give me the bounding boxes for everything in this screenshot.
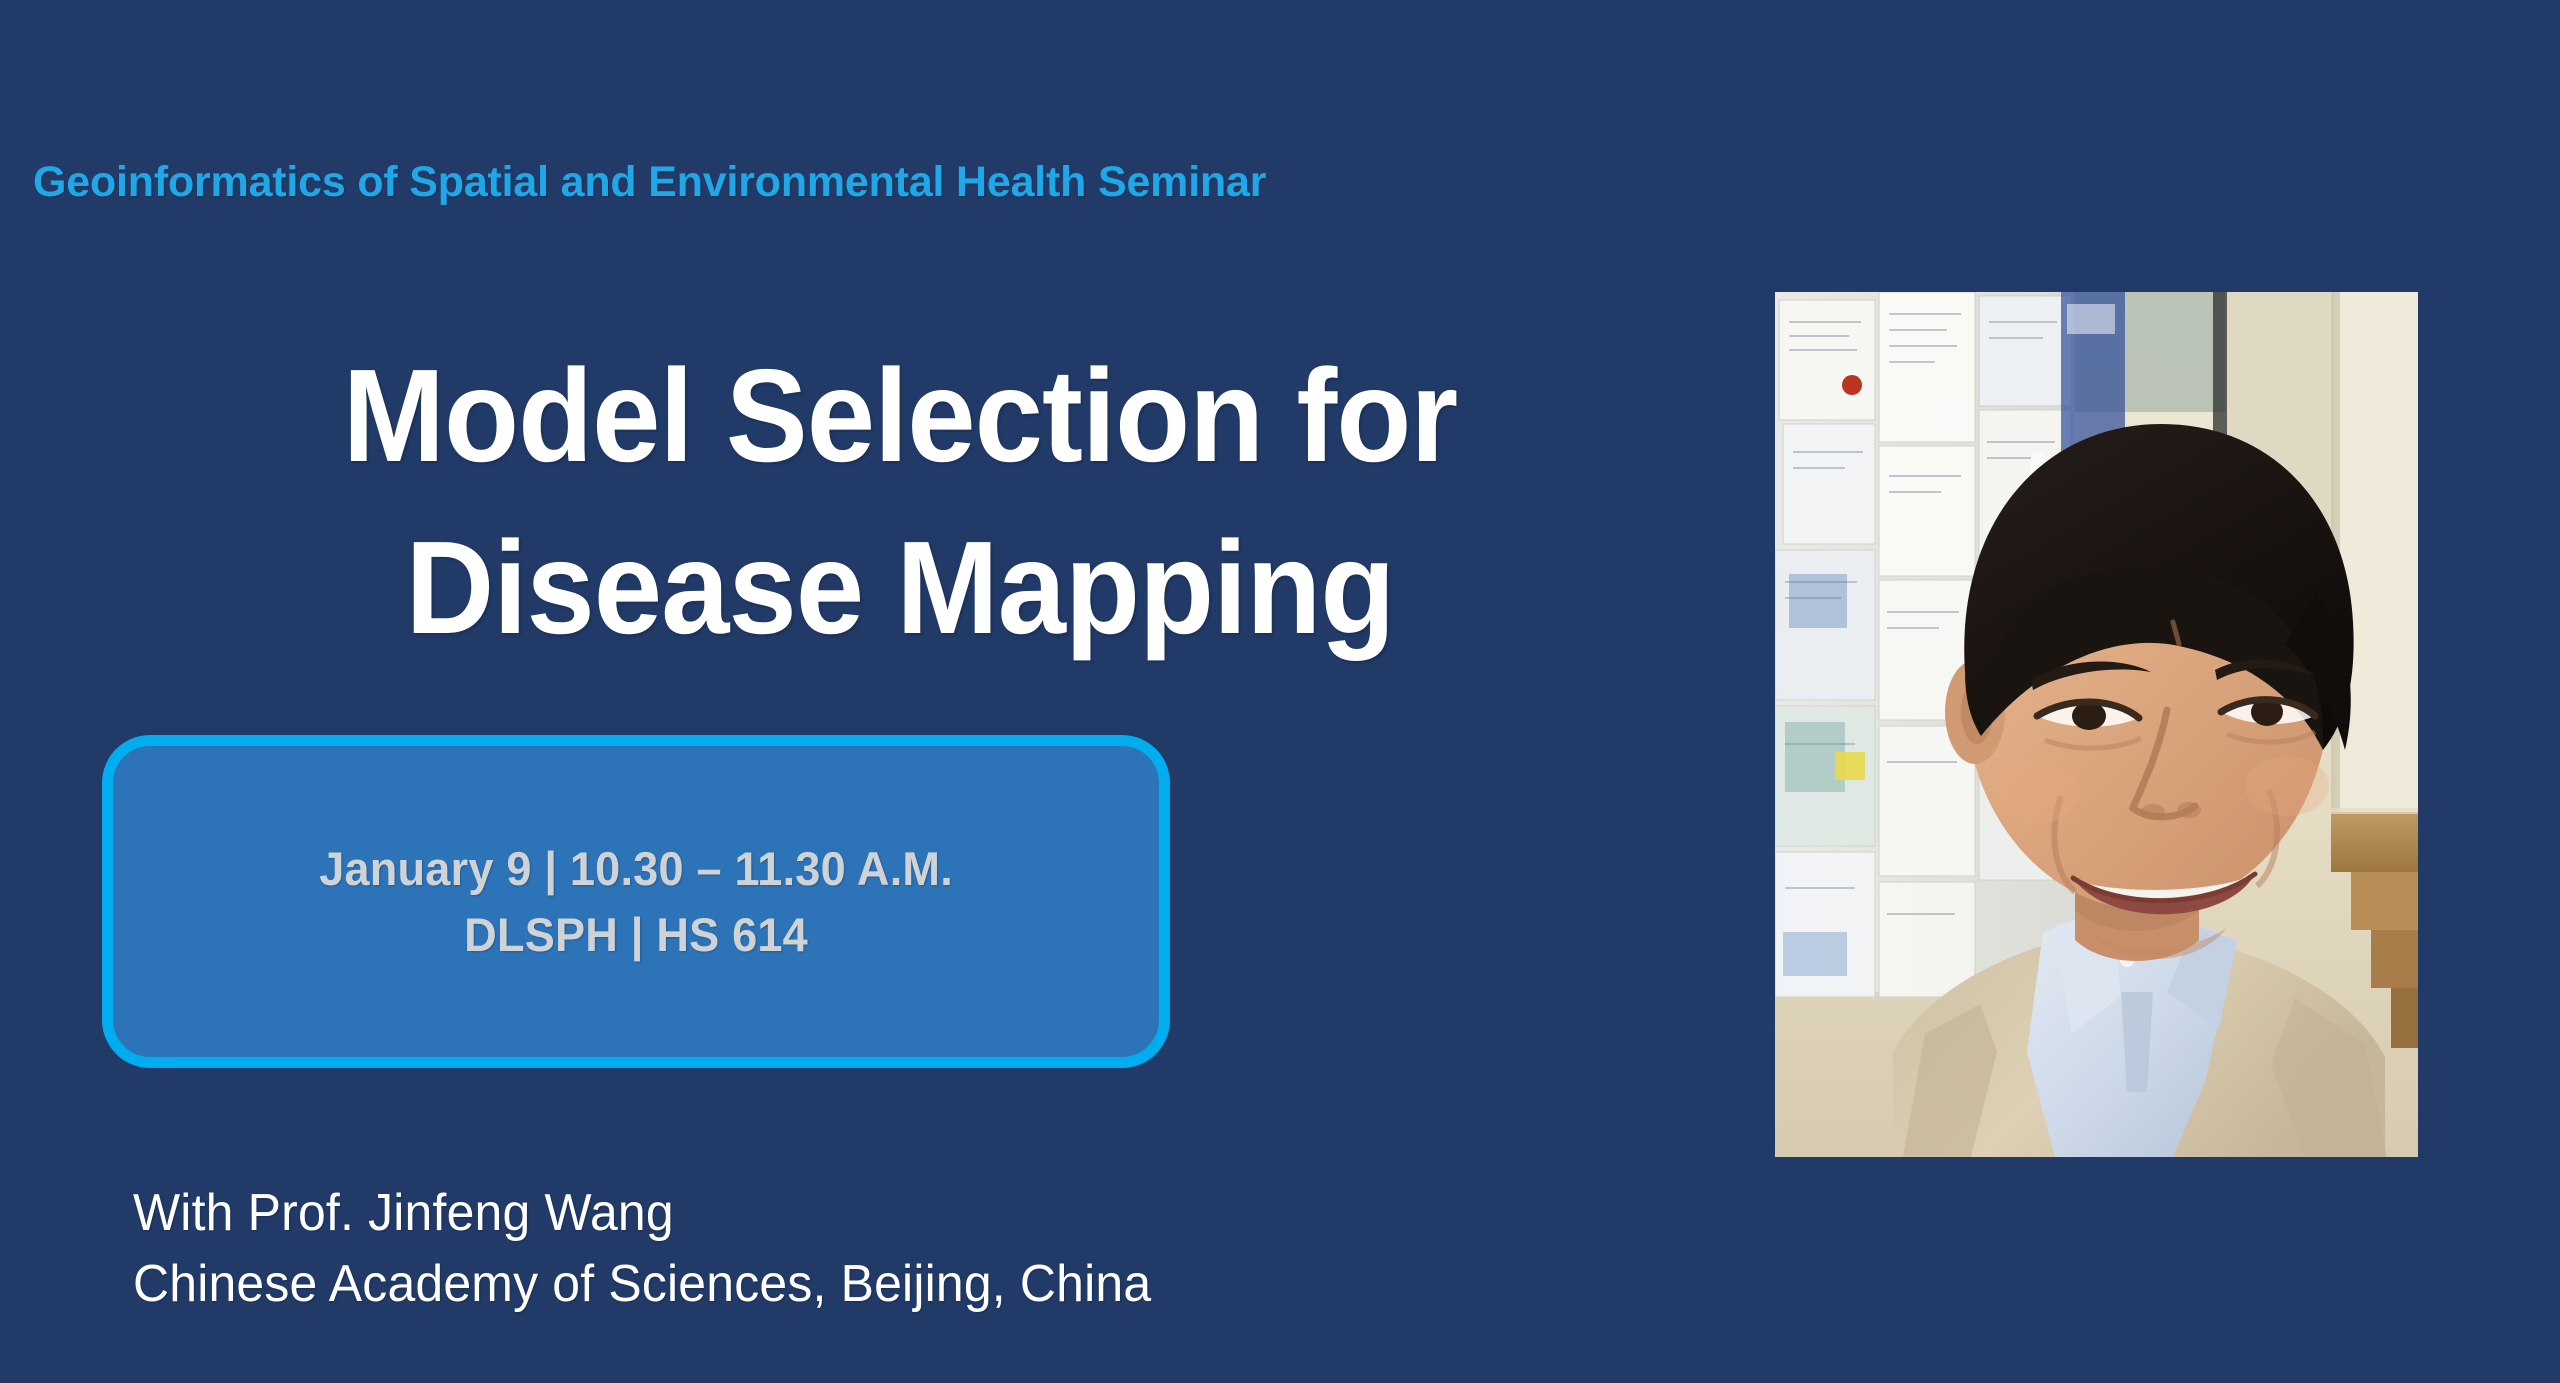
speaker-portrait-photo [1775,292,2418,1157]
speaker-name: With Prof. Jinfeng Wang [133,1178,1151,1249]
title-line-1: Model Selection for [175,330,1626,502]
title-line-2: Disease Mapping [175,502,1626,674]
event-details-box: January 9 | 10.30 – 11.30 A.M. DLSPH | H… [102,735,1170,1068]
event-location: DLSPH | HS 614 [464,902,808,968]
seminar-series-header: Geoinformatics of Spatial and Environmen… [33,158,1266,207]
event-datetime: January 9 | 10.30 – 11.30 A.M. [319,836,953,902]
seminar-title: Model Selection for Disease Mapping [120,330,1680,673]
portrait-illustration [1775,292,2418,1157]
seminar-poster: Geoinformatics of Spatial and Environmen… [0,0,2560,1383]
speaker-credit: With Prof. Jinfeng Wang Chinese Academy … [133,1178,1194,1319]
speaker-affiliation: Chinese Academy of Sciences, Beijing, Ch… [133,1249,1151,1320]
